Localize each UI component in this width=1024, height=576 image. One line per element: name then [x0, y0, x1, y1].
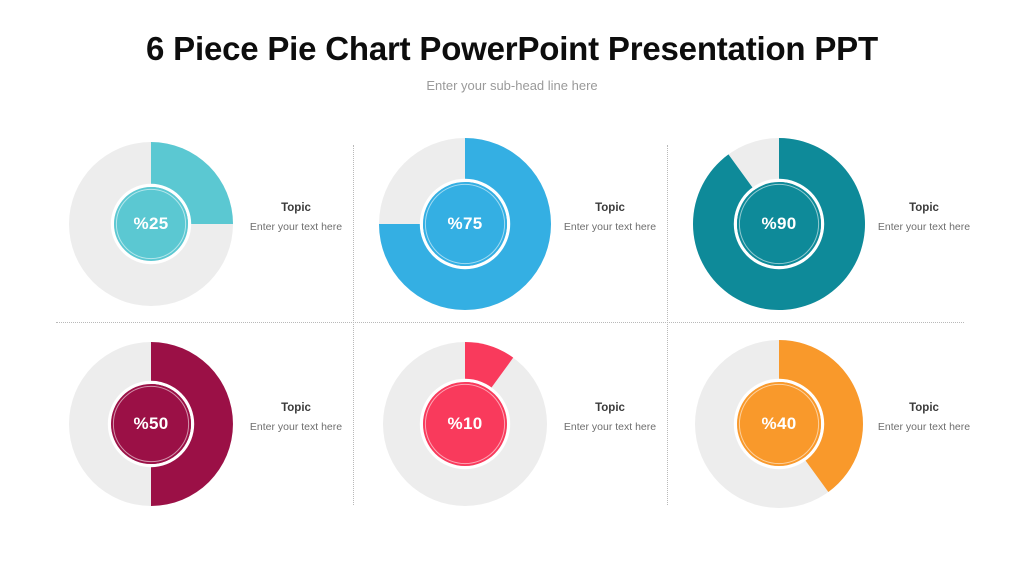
- donut-svg-4: [58, 331, 244, 517]
- donut-chart-3[interactable]: %90: [686, 131, 872, 317]
- chart-caption-1: Topic Enter your text here: [238, 200, 354, 234]
- chart-caption-4: Topic Enter your text here: [238, 400, 354, 434]
- chart-caption-3: Topic Enter your text here: [866, 200, 982, 234]
- donut-chart-6[interactable]: %40: [686, 331, 872, 517]
- donut-chart-1[interactable]: %25: [58, 131, 244, 317]
- caption-title-4: Topic: [238, 400, 354, 416]
- donut-svg-6: [686, 331, 872, 517]
- caption-title-6: Topic: [866, 400, 982, 416]
- caption-subtext-6: Enter your text here: [866, 420, 982, 434]
- donut-svg-5: [372, 331, 558, 517]
- chart-cell-1[interactable]: %25 Topic Enter your text here: [40, 128, 354, 318]
- chart-caption-5: Topic Enter your text here: [552, 400, 668, 434]
- caption-title-2: Topic: [552, 200, 668, 216]
- chart-caption-6: Topic Enter your text here: [866, 400, 982, 434]
- donut-chart-5[interactable]: %10: [372, 331, 558, 517]
- donut-svg-2: [372, 131, 558, 317]
- donut-chart-2[interactable]: %75: [372, 131, 558, 317]
- caption-title-1: Topic: [238, 200, 354, 216]
- caption-title-3: Topic: [866, 200, 982, 216]
- caption-subtext-5: Enter your text here: [552, 420, 668, 434]
- page-subtitle: Enter your sub-head line here: [0, 78, 1024, 94]
- chart-cell-5[interactable]: %10 Topic Enter your text here: [354, 328, 668, 518]
- caption-subtext-3: Enter your text here: [866, 220, 982, 234]
- chart-cell-6[interactable]: %40 Topic Enter your text here: [668, 328, 982, 518]
- chart-cell-4[interactable]: %50 Topic Enter your text here: [40, 328, 354, 518]
- slide-header: 6 Piece Pie Chart PowerPoint Presentatio…: [0, 28, 1024, 94]
- chart-cell-3[interactable]: %90 Topic Enter your text here: [668, 128, 982, 318]
- page-title: 6 Piece Pie Chart PowerPoint Presentatio…: [0, 28, 1024, 70]
- divider-horizontal: [56, 322, 964, 323]
- caption-subtext-1: Enter your text here: [238, 220, 354, 234]
- caption-subtext-4: Enter your text here: [238, 420, 354, 434]
- donut-svg-1: [58, 131, 244, 317]
- chart-caption-2: Topic Enter your text here: [552, 200, 668, 234]
- donut-svg-3: [686, 131, 872, 317]
- caption-title-5: Topic: [552, 400, 668, 416]
- caption-subtext-2: Enter your text here: [552, 220, 668, 234]
- donut-chart-4[interactable]: %50: [58, 331, 244, 517]
- chart-cell-2[interactable]: %75 Topic Enter your text here: [354, 128, 668, 318]
